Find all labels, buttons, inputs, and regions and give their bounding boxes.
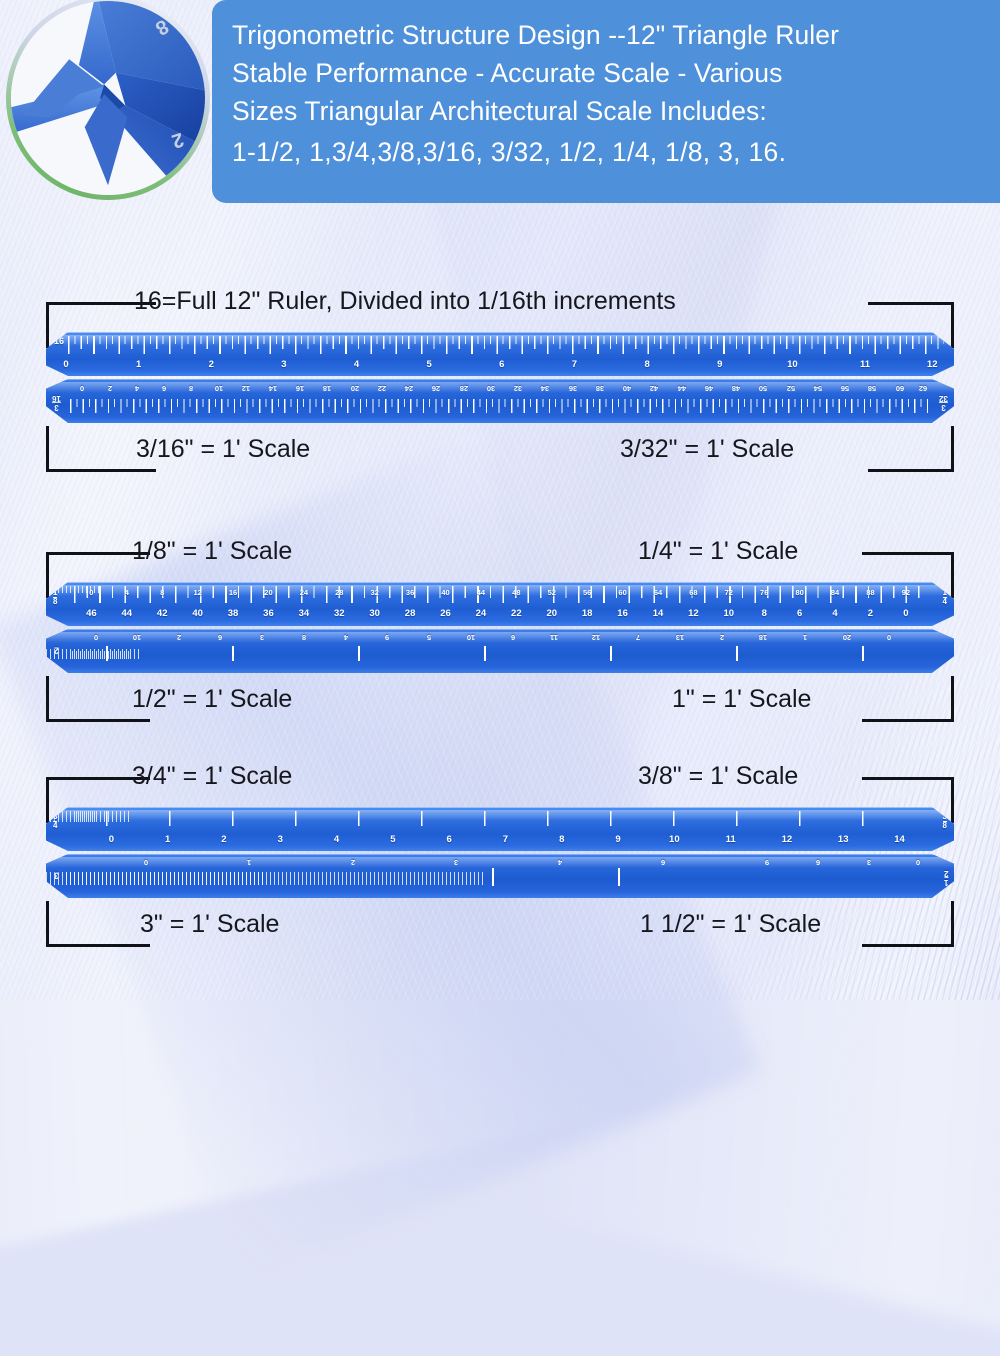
section-3-bottom-right-caption: 1 1/2" = 1' Scale bbox=[640, 901, 821, 947]
section-1-bottom-captions: 3/16" = 1' Scale 3/32" = 1' Scale bbox=[0, 430, 1000, 476]
header-line-2: Stable Performance - Accurate Scale - Va… bbox=[232, 54, 990, 92]
section-2-bottom-ticks-dense-left bbox=[72, 651, 132, 659]
section-3-bottom-ticks-dense-right bbox=[46, 872, 266, 885]
section-2-bottom-ticks bbox=[106, 646, 864, 661]
section-3-bottom-left-end: 3 bbox=[54, 870, 59, 879]
section-2-bottom-bracket-right bbox=[862, 676, 954, 722]
section-2-bottom-captions: 1/2" = 1' Scale 1" = 1' Scale bbox=[0, 680, 1000, 726]
section-2-bottom-left-caption: 1/2" = 1' Scale bbox=[132, 676, 292, 722]
section-1-bottom-bracket-right bbox=[868, 426, 954, 472]
section-2-bottom-face: 0102 638 495 10611 12713 2181 200 2 bbox=[46, 629, 954, 673]
ruler-section-2: 1/8" = 1' Scale 1/4" = 1' Scale 18 14 04… bbox=[0, 536, 1000, 726]
section-1-top-face: 16 012 345 678 91011 12 bbox=[46, 332, 954, 376]
section-1-bottom-right-end: 332 bbox=[939, 393, 948, 411]
section-3-bottom-ticks-dense-left bbox=[66, 872, 486, 885]
section-1-top-captions: 16=Full 12" Ruler, Divided into 1/16th i… bbox=[0, 286, 1000, 332]
section-3-bottom-ticks-sparse bbox=[492, 868, 710, 886]
section-1-bottom-ticks-medium bbox=[70, 399, 930, 413]
section-3-top-face: 34 38 012 345 678 91011 121314 bbox=[46, 807, 954, 851]
section-3-top-left-end: 34 bbox=[53, 813, 57, 831]
face-sheen bbox=[46, 335, 954, 346]
section-2-top-numbers-lower: 464442 403836 343230 282624 222018 16141… bbox=[46, 607, 954, 620]
face-sheen bbox=[46, 810, 954, 821]
section-1-bottom-numbers: 024 6810 121416 182022 242628 303234 363… bbox=[46, 382, 954, 395]
product-badge: 8 2 bbox=[6, 0, 210, 200]
section-3-bottom-right-end: 12 bbox=[944, 868, 948, 886]
section-3-bottom-numbers: 012 346 963 0 bbox=[46, 856, 954, 869]
section-1-ruler: 16 012 345 678 91011 12 024 6810 121416 … bbox=[46, 332, 954, 423]
section-2-top-right-caption: 1/4" = 1' Scale bbox=[638, 528, 798, 574]
section-3-ruler: 34 38 012 345 678 91011 121314 012 346 9… bbox=[46, 807, 954, 898]
section-3-top-left-caption: 3/4" = 1' Scale bbox=[132, 753, 292, 799]
section-1-bottom-face: 024 6810 121416 182022 242628 303234 363… bbox=[46, 379, 954, 423]
section-2-bottom-left-end: 2 bbox=[54, 645, 59, 654]
section-2-bottom-numbers-upper: 0102 638 495 10611 12713 2181 200 bbox=[46, 631, 954, 644]
section-2-ruler: 18 14 048 121620 242832 364044 485256 60… bbox=[46, 582, 954, 673]
header-line-1: Trigonometric Structure Design --12" Tri… bbox=[232, 16, 990, 54]
section-2-top-left-caption: 1/8" = 1' Scale bbox=[132, 528, 292, 574]
section-1-ticks-medium bbox=[68, 336, 944, 349]
section-2-top-face: 18 14 048 121620 242832 364044 485256 60… bbox=[46, 582, 954, 626]
section-1-ticks-coarse bbox=[68, 336, 944, 354]
section-3-ticks-sparse bbox=[106, 811, 894, 826]
section-3-bottom-left-caption: 3" = 1' Scale bbox=[140, 901, 279, 947]
section-2-top-numbers-upper: 048 121620 242832 364044 485256 606468 7… bbox=[46, 586, 954, 599]
section-2-top-captions: 1/8" = 1' Scale 1/4" = 1' Scale bbox=[0, 536, 1000, 582]
section-2-bottom-ticks-dense-right bbox=[46, 649, 142, 659]
section-2-bottom-right-caption: 1" = 1' Scale bbox=[672, 676, 811, 722]
header-banner: Trigonometric Structure Design --12" Tri… bbox=[212, 0, 1000, 203]
ruler-section-3: 3/4" = 1' Scale 3/8" = 1' Scale 34 38 01… bbox=[0, 761, 1000, 951]
section-1-bottom-left-caption: 3/16" = 1' Scale bbox=[136, 426, 310, 472]
section-1-ticks-fine bbox=[68, 336, 944, 344]
section-3-top-right-caption: 3/8" = 1' Scale bbox=[638, 753, 798, 799]
section-1-top-left-end: 16 bbox=[54, 337, 64, 346]
triangular-ruler-illustration bbox=[11, 1, 205, 195]
section-3-bottom-captions: 3" = 1' Scale 1 1/2" = 1' Scale bbox=[0, 905, 1000, 951]
header-line-4: 1-1/2, 1,3/4,3/8,3/16, 3/32, 1/2, 1/4, 1… bbox=[232, 130, 990, 171]
section-1-bottom-ticks-fine bbox=[70, 399, 930, 407]
section-3-top-captions: 3/4" = 1' Scale 3/8" = 1' Scale bbox=[0, 761, 1000, 807]
section-3-bottom-bracket-right bbox=[862, 901, 954, 947]
section-3-top-numbers: 012 345 678 91011 121314 bbox=[46, 833, 954, 846]
header-line-3: Sizes Triangular Architectural Scale Inc… bbox=[232, 92, 990, 130]
badge-disc: 8 2 bbox=[11, 1, 205, 195]
section-3-top-right-end: 38 bbox=[943, 813, 947, 831]
section-3-bottom-bracket-left bbox=[46, 901, 150, 947]
section-3-ticks-dense-left bbox=[76, 811, 132, 822]
section-1-bottom-right-caption: 3/32" = 1' Scale bbox=[620, 426, 794, 472]
section-1-bottom-left-end: 316 bbox=[52, 393, 61, 411]
section-1-top-caption: 16=Full 12" Ruler, Divided into 1/16th i… bbox=[134, 278, 676, 324]
ruler-section-1: 16=Full 12" Ruler, Divided into 1/16th i… bbox=[0, 286, 1000, 476]
section-1-top-numbers: 012 345 678 91011 12 bbox=[46, 358, 954, 371]
section-3-bottom-face: 012 346 963 0 3 12 bbox=[46, 854, 954, 898]
